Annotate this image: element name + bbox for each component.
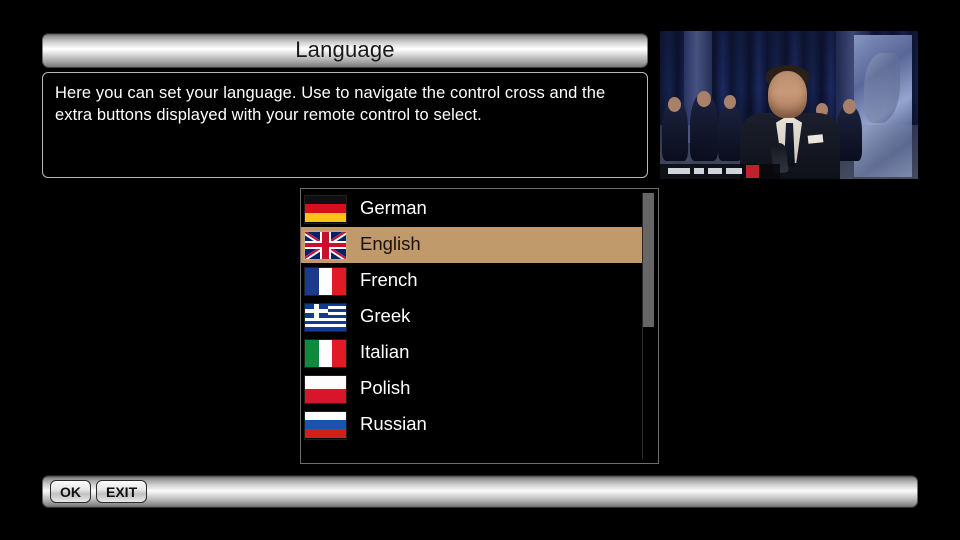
video-reporter-face	[768, 71, 807, 118]
live-tv-preview[interactable]	[660, 31, 918, 179]
list-item-label: Greek	[360, 307, 410, 328]
video-reporter-pocket-square	[808, 134, 824, 144]
video-banner-bar	[726, 168, 742, 174]
bottom-action-bar: OK EXIT	[42, 475, 918, 508]
list-item-label: French	[360, 271, 418, 292]
language-list-panel: German English French Greek	[300, 188, 659, 464]
list-item-label: English	[360, 235, 421, 256]
list-scrollbar[interactable]	[642, 193, 654, 459]
list-item-label: Polish	[360, 379, 410, 400]
list-item[interactable]: Greek	[301, 299, 643, 335]
list-item[interactable]: Russian	[301, 407, 643, 443]
video-crowd-head	[697, 91, 711, 107]
title-bar: Language	[42, 33, 648, 68]
flag-germany-icon	[305, 196, 346, 223]
description-panel: Here you can set your language. Use to n…	[42, 72, 648, 178]
flag-italy-icon	[305, 340, 346, 367]
list-item-label: German	[360, 199, 427, 220]
list-item-label: Italian	[360, 343, 409, 364]
list-scrollbar-thumb[interactable]	[643, 193, 654, 327]
video-banner-logo	[746, 165, 759, 178]
list-item[interactable]: German	[301, 191, 643, 227]
list-item[interactable]: English	[301, 227, 643, 263]
video-banner-bar	[708, 168, 722, 174]
list-item[interactable]: French	[301, 263, 643, 299]
list-item-label: Russian	[360, 415, 427, 436]
flag-france-icon	[305, 268, 346, 295]
list-item[interactable]: Polish	[301, 371, 643, 407]
exit-button[interactable]: EXIT	[96, 480, 147, 503]
list-item[interactable]: Italian	[301, 335, 643, 371]
video-crowd-head	[843, 99, 856, 114]
video-crowd-figure	[718, 103, 742, 161]
flag-united-kingdom-icon	[305, 232, 346, 259]
ok-button[interactable]: OK	[50, 480, 91, 503]
video-crowd-head	[724, 95, 736, 109]
flag-russia-icon	[305, 412, 346, 439]
flag-greece-icon	[305, 304, 346, 331]
language-list: German English French Greek	[301, 191, 643, 443]
flag-poland-icon	[305, 376, 346, 403]
video-banner-bar	[668, 168, 690, 174]
video-banner-bar	[694, 168, 704, 174]
video-crowd-head	[668, 97, 681, 112]
page-title: Language	[295, 39, 394, 63]
description-text: Here you can set your language. Use to n…	[55, 83, 635, 127]
